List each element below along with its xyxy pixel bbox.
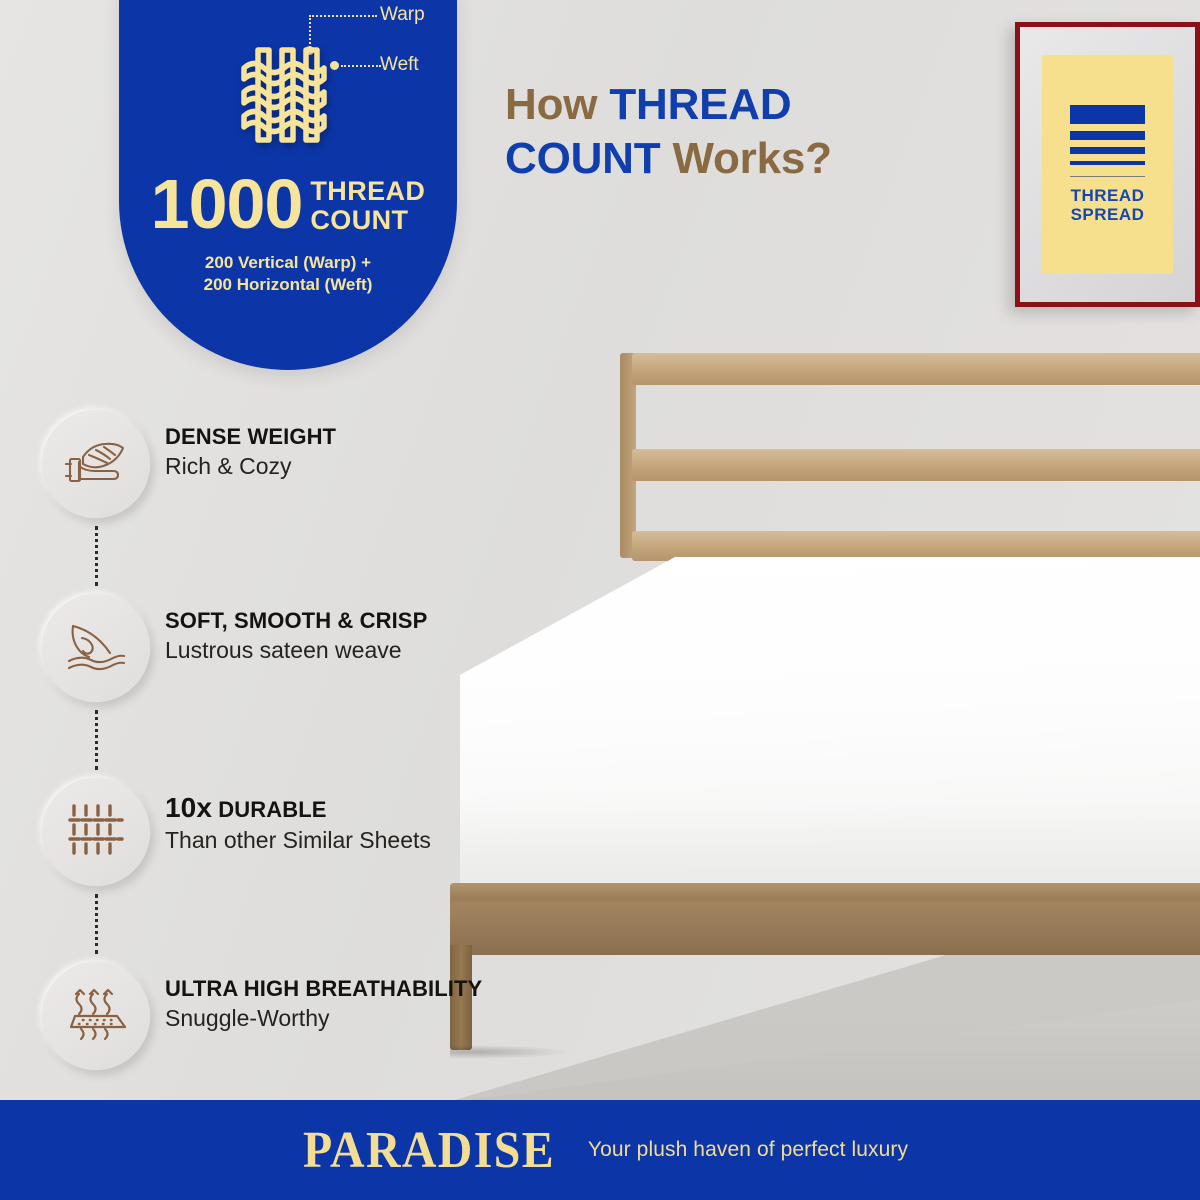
frame-art-line2: SPREAD <box>1071 205 1145 224</box>
feature-title-4: ULTRA HIGH BREATHABILITY <box>165 976 515 1002</box>
title-part-works: Works? <box>660 134 831 183</box>
frame-art-title: THREAD SPREAD <box>1071 186 1145 224</box>
feature-title-2: SOFT, SMOOTH & CRISP <box>165 608 515 634</box>
frame-art-line1: THREAD <box>1071 186 1145 205</box>
breakdown-line-2: 200 Horizontal (Weft) <box>204 274 373 297</box>
feature-text-4: ULTRA HIGH BREATHABILITY Snuggle-Worthy <box>165 976 515 1032</box>
feature-icon-circle-4 <box>42 962 150 1070</box>
title-part-how: How <box>505 80 609 129</box>
thread-spread-bars-icon <box>1070 105 1145 165</box>
breathability-icon <box>65 985 127 1048</box>
warp-label: Warp <box>380 4 425 26</box>
feature-list: DENSE WEIGHT Rich & Cozy SOFT, SMOO <box>42 400 512 1136</box>
feature-item-dense-weight: DENSE WEIGHT Rich & Cozy <box>42 400 512 584</box>
warp-dotted-horizontal <box>309 15 377 17</box>
count-unit: THREAD COUNT <box>310 174 425 234</box>
mattress-shadow <box>460 800 1200 888</box>
thread-count-value: 1000 THREAD COUNT <box>151 171 426 238</box>
feature-text-2: SOFT, SMOOTH & CRISP Lustrous sateen wea… <box>165 608 515 664</box>
headboard-slat-bottom <box>632 531 1200 561</box>
feature-desc-2: Lustrous sateen weave <box>165 637 515 665</box>
feature-title-3-rest: DURABLE <box>218 797 326 822</box>
weave-grid-icon <box>68 802 124 863</box>
frame-artwork: THREAD SPREAD <box>1042 55 1173 274</box>
headboard-slat-middle <box>632 449 1200 481</box>
brand-name: PARADISE <box>303 1121 555 1180</box>
woven-thread-icon <box>240 42 336 153</box>
feature-title-3: 10x DURABLE <box>165 792 515 824</box>
frame-divider <box>1070 176 1145 177</box>
thread-count-badge: Warp Weft 1000 <box>119 0 457 370</box>
weft-dotted-horizontal <box>341 65 381 67</box>
feature-icon-circle-2 <box>42 594 150 702</box>
weft-label: Weft <box>380 54 419 76</box>
frame-mat: THREAD SPREAD <box>1020 27 1195 302</box>
hand-feather-icon <box>65 436 127 493</box>
title-part-thread: THREAD <box>609 80 791 129</box>
count-unit-line2: COUNT <box>310 206 425 234</box>
feature-item-durable: 10x DURABLE Than other Similar Sheets <box>42 768 512 952</box>
count-number: 1000 <box>151 171 303 238</box>
title-part-count: COUNT <box>505 134 660 183</box>
page-title: How THREAD COUNT Works? <box>505 78 975 185</box>
feature-icon-circle-3 <box>42 778 150 886</box>
thread-count-breakdown: 200 Vertical (Warp) + 200 Horizontal (We… <box>204 252 373 298</box>
feature-desc-3: Than other Similar Sheets <box>165 827 515 855</box>
hand-fabric-icon <box>65 620 127 677</box>
infographic-canvas: THREAD SPREAD Warp Weft <box>0 0 1200 1200</box>
breakdown-line-1: 200 Vertical (Warp) + <box>204 252 373 275</box>
headboard-slat-top <box>632 353 1200 385</box>
brand-banner: PARADISE Your plush haven of perfect lux… <box>0 1100 1200 1200</box>
feature-title-3-big: 10x <box>165 792 212 823</box>
feature-icon-circle-1 <box>42 410 150 518</box>
feature-title-1: DENSE WEIGHT <box>165 424 515 450</box>
framed-wall-art: THREAD SPREAD <box>1015 22 1200 307</box>
bed-rail-highlight <box>450 883 1200 899</box>
feature-desc-4: Snuggle-Worthy <box>165 1005 515 1033</box>
feature-text-3: 10x DURABLE Than other Similar Sheets <box>165 792 515 855</box>
feature-desc-1: Rich & Cozy <box>165 453 515 481</box>
brand-tagline: Your plush haven of perfect luxury <box>588 1138 908 1162</box>
count-unit-line1: THREAD <box>310 177 425 205</box>
bed-photo <box>420 345 1200 1055</box>
feature-text-1: DENSE WEIGHT Rich & Cozy <box>165 424 515 480</box>
feature-item-soft-smooth-crisp: SOFT, SMOOTH & CRISP Lustrous sateen wea… <box>42 584 512 768</box>
